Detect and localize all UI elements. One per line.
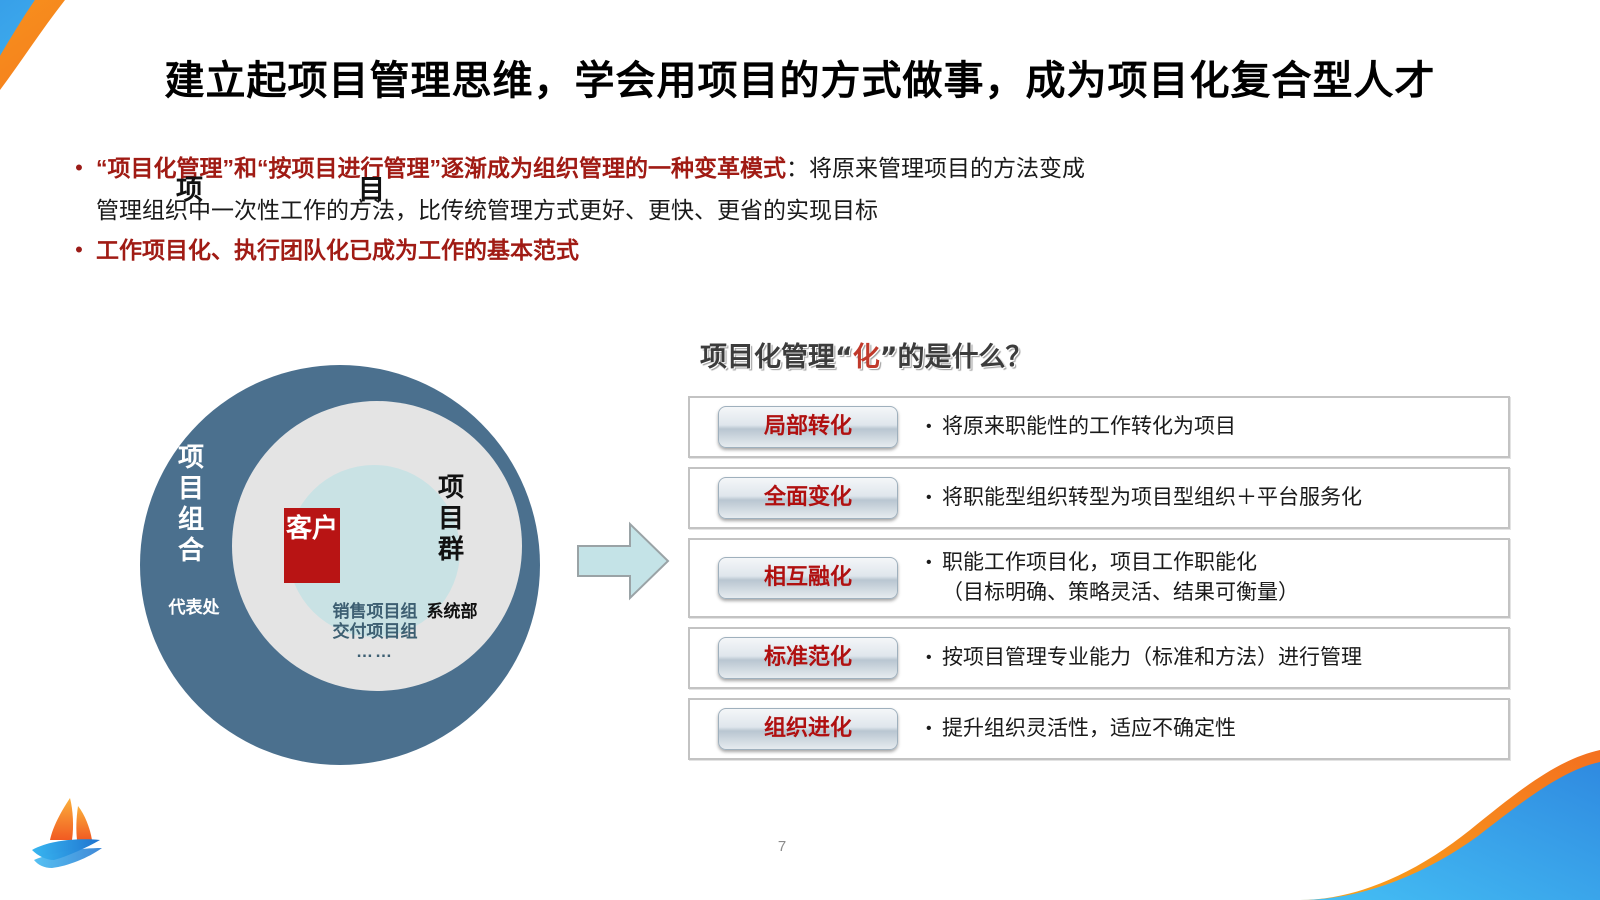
label-ellipsis: …… — [266, 642, 484, 662]
row-bullet-marker: • — [926, 412, 942, 442]
label-portfolio-sub: 代表处 — [154, 593, 234, 618]
row-bullet-marker: • — [926, 483, 942, 513]
label-project-group-delivery: 交付项目组 — [266, 622, 484, 642]
heading-prefix: 项目化管理 — [700, 342, 835, 373]
label-project-group-sales: 销售项目组 — [266, 602, 484, 622]
row-pill-cell: 标准范化 — [690, 637, 926, 679]
pill-button-mutual-integration[interactable]: 相互融化 — [718, 557, 898, 599]
bullet-marker: • — [62, 148, 96, 188]
bullet-text: “项目化管理”和“按项目进行管理”逐渐成为组织管理的一种变革模式：将原来管理项目… — [96, 148, 1542, 188]
row-pill-cell: 局部转化 — [690, 406, 926, 448]
row-bullet-marker: • — [926, 548, 942, 578]
row-pill-cell: 全面变化 — [690, 477, 926, 519]
row-lines: 将职能型组织转型为项目型组织＋平台服务化 — [942, 483, 1494, 513]
bullet-text: 工作项目化、执行团队化已成为工作的基本范式 — [96, 230, 1542, 270]
sailboat-logo — [28, 790, 132, 878]
pill-button-local-transformation[interactable]: 局部转化 — [718, 406, 898, 448]
label-customer-box: 客户 — [284, 508, 340, 583]
row-description: • 按项目管理专业能力（标准和方法）进行管理 — [926, 643, 1508, 673]
row-line: 提升组织灵活性，适应不确定性 — [942, 714, 1494, 744]
row-line: （目标明确、策略灵活、结果可衡量） — [942, 578, 1494, 608]
table-row[interactable]: 相互融化 • 职能工作项目化，项目工作职能化 （目标明确、策略灵活、结果可衡量） — [688, 538, 1510, 618]
bullet-text-emphasis: 工作项目化、执行团队化已成为工作的基本范式 — [96, 237, 579, 263]
label-project-groups: 销售项目组 交付项目组 — [266, 602, 484, 642]
label-portfolio: 项目组合 — [168, 443, 214, 567]
label-program: 项目群 — [428, 473, 474, 566]
list-item: • “项目化管理”和“按项目进行管理”逐渐成为组织管理的一种变革模式：将原来管理… — [62, 148, 1542, 188]
row-pill-cell: 组织进化 — [690, 708, 926, 750]
row-lines: 职能工作项目化，项目工作职能化 （目标明确、策略灵活、结果可衡量） — [942, 548, 1494, 608]
row-line: 职能工作项目化，项目工作职能化 — [942, 548, 1494, 578]
row-lines: 提升组织灵活性，适应不确定性 — [942, 714, 1494, 744]
row-bullet-marker: • — [926, 643, 942, 673]
row-line: 按项目管理专业能力（标准和方法）进行管理 — [942, 643, 1494, 673]
bullet-list: • “项目化管理”和“按项目进行管理”逐渐成为组织管理的一种变革模式：将原来管理… — [62, 148, 1542, 272]
row-description: • 职能工作项目化，项目工作职能化 （目标明确、策略灵活、结果可衡量） — [926, 548, 1508, 608]
pill-button-organization-evolution[interactable]: 组织进化 — [718, 708, 898, 750]
row-lines: 将原来职能性的工作转化为项目 — [942, 412, 1494, 442]
row-lines: 按项目管理专业能力（标准和方法）进行管理 — [942, 643, 1494, 673]
row-bullet-marker: • — [926, 714, 942, 744]
table-row[interactable]: 组织进化 • 提升组织灵活性，适应不确定性 — [688, 698, 1510, 760]
row-line: 将职能型组织转型为项目型组织＋平台服务化 — [942, 483, 1494, 513]
list-item: • 工作项目化、执行团队化已成为工作的基本范式 — [62, 230, 1542, 270]
heading-quote-open: “ — [835, 342, 853, 373]
page-number: 7 — [770, 838, 794, 855]
right-panel-heading: 项目化管理“化”的是什么？ — [700, 335, 1033, 374]
bullet-continuation: 管理组织中一次性工作的方法，比传统管理方式更好、更快、更省的实现目标 — [96, 190, 1542, 230]
row-pill-cell: 相互融化 — [690, 557, 926, 599]
corner-decoration-bottom-right — [1300, 750, 1600, 900]
pill-button-full-change[interactable]: 全面变化 — [718, 477, 898, 519]
heading-quote-close: ” — [880, 342, 898, 373]
pill-button-standardization[interactable]: 标准范化 — [718, 637, 898, 679]
table-row[interactable]: 全面变化 • 将职能型组织转型为项目型组织＋平台服务化 — [688, 467, 1510, 529]
row-description: • 将职能型组织转型为项目型组织＋平台服务化 — [926, 483, 1508, 513]
right-arrow-icon — [576, 518, 670, 604]
row-description: • 将原来职能性的工作转化为项目 — [926, 412, 1508, 442]
label-project-right-char: 目 — [358, 168, 385, 207]
heading-highlight: 化 — [853, 342, 880, 373]
heading-suffix: 的是什么？ — [898, 342, 1033, 373]
label-project-left-char: 项 — [176, 168, 203, 207]
row-description: • 提升组织灵活性，适应不确定性 — [926, 714, 1508, 744]
table-row[interactable]: 局部转化 • 将原来职能性的工作转化为项目 — [688, 396, 1510, 458]
transformation-row-list: 局部转化 • 将原来职能性的工作转化为项目 全面变化 • 将职能型组织转型为项目… — [688, 396, 1510, 769]
row-line: 将原来职能性的工作转化为项目 — [942, 412, 1494, 442]
table-row[interactable]: 标准范化 • 按项目管理专业能力（标准和方法）进行管理 — [688, 627, 1510, 689]
bullet-text-plain: ：将原来管理项目的方法变成 — [786, 155, 1085, 181]
page-title: 建立起项目管理思维，学会用项目的方式做事，成为项目化复合型人才 — [0, 48, 1600, 106]
bullet-marker: • — [62, 230, 96, 270]
concentric-circle-diagram: 项目组合 代表处 项目群 系统部 销售项目组 交付项目组 …… — [140, 365, 540, 765]
label-customer-text: 客户 — [286, 514, 338, 544]
